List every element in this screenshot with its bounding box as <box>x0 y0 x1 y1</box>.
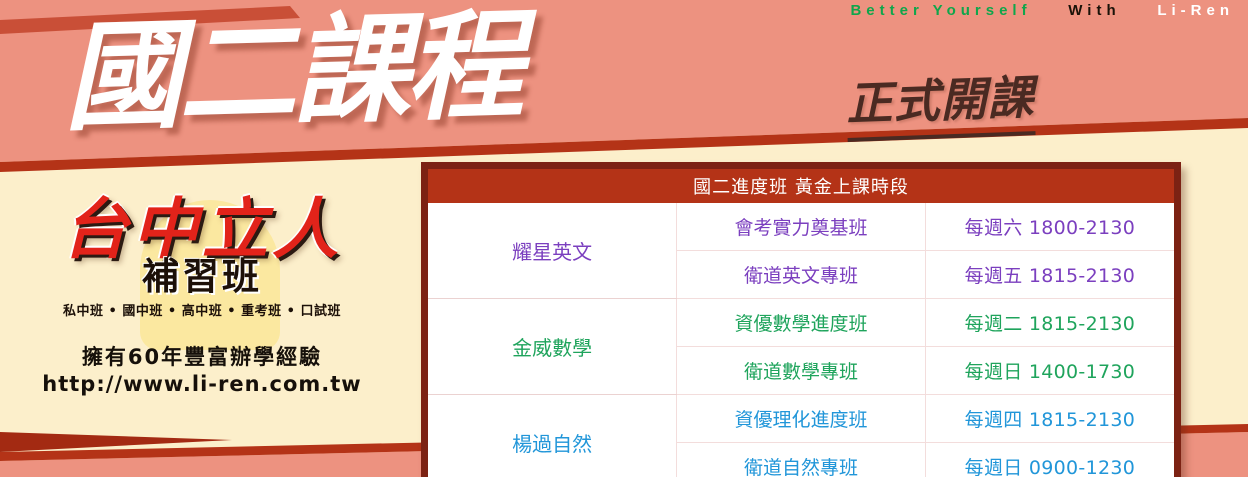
table-row: 耀星英文 會考實力奠基班 每週六 1800-2130 <box>428 203 1174 251</box>
table-row: 金威數學 資優數學進度班 每週二 1815-2130 <box>428 299 1174 347</box>
course-cell: 資優理化進度班 <box>677 395 926 443</box>
promo-banner: Better Yourself With Li-Ren 國二課程 正式開課 台中… <box>0 0 1248 477</box>
logo: 台中立人 補習班 私中班 • 國中班 • 高中班 • 重考班 • 口試班 擁有6… <box>28 196 376 396</box>
time-cell: 每週六 1800-2130 <box>925 203 1174 251</box>
course-cell: 資優數學進度班 <box>677 299 926 347</box>
tagline-part-li-ren: Li-Ren <box>1157 2 1234 19</box>
logo-class-categories: 私中班 • 國中班 • 高中班 • 重考班 • 口試班 <box>28 300 376 319</box>
tagline-part-better-yourself: Better Yourself <box>850 2 1031 19</box>
schedule-table-head: 國二進度班 黃金上課時段 <box>428 169 1174 203</box>
tagline-part-with: With <box>1068 2 1120 19</box>
subject-cell-english: 耀星英文 <box>428 203 677 299</box>
schedule-table-frame: 國二進度班 黃金上課時段 耀星英文 會考實力奠基班 每週六 1800-2130 … <box>421 162 1181 477</box>
page-title: 國二課程 <box>62 1 521 141</box>
logo-sub-text: 補習班 <box>28 258 376 297</box>
logo-main-text: 台中立人 <box>28 196 376 262</box>
subtitle-open-course: 正式開課 <box>845 61 1036 142</box>
tagline: Better Yourself With Li-Ren <box>850 2 1234 19</box>
course-cell: 衛道英文專班 <box>677 251 926 299</box>
schedule-header-title: 國二進度班 黃金上課時段 <box>428 169 1174 203</box>
table-header-row: 國二進度班 黃金上課時段 <box>428 169 1174 203</box>
time-cell: 每週日 1400-1730 <box>925 347 1174 395</box>
subject-cell-science: 楊過自然 <box>428 395 677 477</box>
course-cell: 衛道自然專班 <box>677 443 926 477</box>
time-cell: 每週四 1815-2130 <box>925 395 1174 443</box>
logo-website-url[interactable]: http://www.li-ren.com.tw <box>28 372 376 396</box>
course-cell: 會考實力奠基班 <box>677 203 926 251</box>
schedule-table: 國二進度班 黃金上課時段 耀星英文 會考實力奠基班 每週六 1800-2130 … <box>428 169 1174 477</box>
time-cell: 每週五 1815-2130 <box>925 251 1174 299</box>
subhead-container: 正式開課 <box>845 61 1036 142</box>
table-row: 楊過自然 資優理化進度班 每週四 1815-2130 <box>428 395 1174 443</box>
course-cell: 衛道數學專班 <box>677 347 926 395</box>
time-cell: 每週日 0900-1230 <box>925 443 1174 477</box>
subject-cell-math: 金威數學 <box>428 299 677 395</box>
schedule-table-body: 耀星英文 會考實力奠基班 每週六 1800-2130 衛道英文專班 每週五 18… <box>428 203 1174 477</box>
time-cell: 每週二 1815-2130 <box>925 299 1174 347</box>
logo-experience-line: 擁有60年豐富辦學經驗 <box>28 341 376 371</box>
